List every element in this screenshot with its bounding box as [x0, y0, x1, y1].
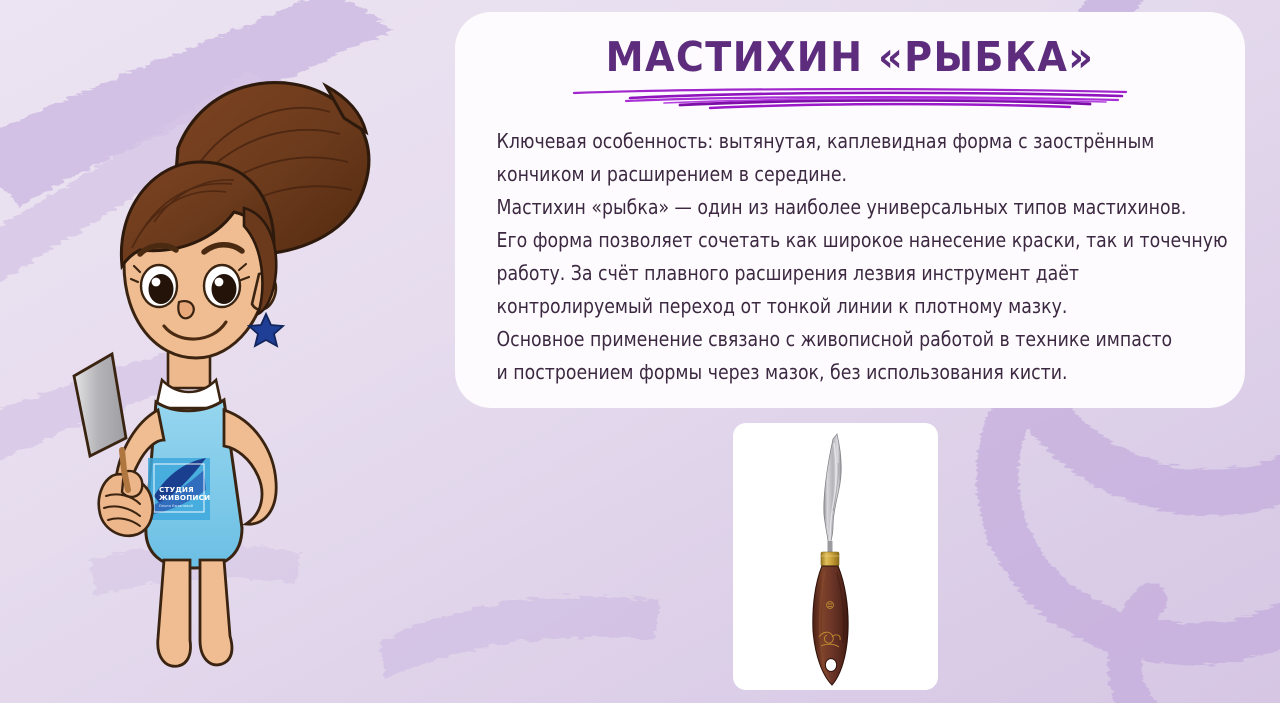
knife-hang-hole [825, 659, 836, 672]
info-card: МАСТИХИН «РЫБКА» Ключевая особенность: в… [455, 12, 1245, 408]
mascot-arm-left [115, 410, 164, 526]
description-line: Ключевая особенность: вытянутая, каплеви… [497, 125, 1168, 158]
mascot-mouth [164, 322, 226, 339]
poster-canvas: СТУДИЯ ЖИВОПИСИ Ольги Базановой [0, 0, 1280, 703]
knife-blade [824, 434, 841, 545]
description-line: и построением формы через мазок, без исп… [497, 356, 1168, 389]
description-line: Его форма позволяет сочетать как широкое… [497, 224, 1168, 257]
mascot-arm-right [224, 410, 276, 524]
mascot-fringe [121, 162, 274, 266]
mascot-leg-left [158, 560, 191, 666]
logo-line-1: СТУДИЯ [159, 485, 194, 494]
mascot-head [124, 168, 268, 358]
mascot-eye-right [204, 265, 240, 307]
mascot-eyebrow-right [204, 245, 242, 252]
knife-ferrule [821, 552, 839, 566]
description-line: контролируемый переход от тонкой линии к… [497, 290, 1168, 323]
mascot-collar [156, 380, 222, 408]
brush-stroke-group-left [0, 0, 395, 480]
knife-shaft [828, 541, 833, 553]
product-image-card [733, 423, 938, 690]
mascot-hand [99, 471, 153, 536]
description-line: работу. За счёт плавного расширения лезв… [497, 257, 1168, 290]
mascot-earring [249, 314, 283, 346]
description-line: Основное применение связано с живописной… [497, 323, 1168, 356]
logo-line-3: Ольги Базановой [159, 504, 194, 508]
title-underline-scribble [570, 85, 1130, 111]
mascot-apron-logo: СТУДИЯ ЖИВОПИСИ Ольги Базановой [148, 458, 210, 520]
brush-stroke-group-bottom [90, 544, 660, 678]
mascot-ponytail [174, 83, 369, 254]
mascot-nose [178, 301, 193, 318]
description-body: Ключевая особенность: вытянутая, каплеви… [489, 125, 1168, 389]
palette-knife-product-image [733, 423, 938, 690]
description-line: кончиком и расширением в середине. [497, 158, 1168, 191]
mascot-illustration: СТУДИЯ ЖИВОПИСИ Ольги Базановой [28, 58, 378, 678]
mascot-eye-left [141, 265, 177, 307]
logo-line-2: ЖИВОПИСИ [159, 493, 210, 502]
description-line: Мастихин «рыбка» — один из наиболее унив… [497, 191, 1168, 224]
mascot-palette-knife [74, 354, 128, 490]
mascot-eyebrow-left [140, 245, 176, 254]
mascot-dress [146, 400, 242, 568]
page-title: МАСТИХИН «РЫБКА» [514, 36, 1185, 79]
mascot-leg-right [200, 560, 232, 665]
